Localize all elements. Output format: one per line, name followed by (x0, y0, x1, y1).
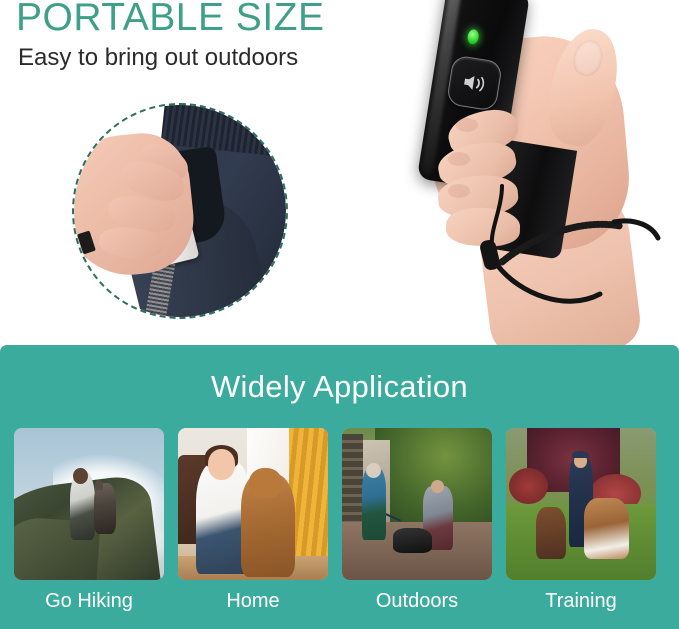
application-item-training[interactable]: Training (506, 428, 656, 613)
brindle-dog (536, 507, 566, 559)
outdoors-photo[interactable] (342, 428, 492, 580)
application-item-outdoors[interactable]: Outdoors (342, 428, 492, 613)
application-label: Training (506, 590, 656, 613)
hiking-photo[interactable] (14, 428, 164, 580)
dog-ear (95, 480, 103, 491)
training-photo[interactable] (506, 428, 656, 580)
page-title: PORTABLE SIZE (16, 0, 324, 40)
black-dog (393, 528, 432, 552)
portable-size-section: PORTABLE SIZE Easy to bring out outdoors (0, 0, 679, 345)
product-in-hand-photo (352, 0, 679, 345)
application-label: Home (178, 590, 328, 613)
application-label: Outdoors (342, 590, 492, 613)
trainer-cap (572, 451, 589, 459)
red-bush (509, 468, 548, 504)
hiker-head (73, 468, 88, 485)
application-thumbnail-row: Go Hiking Home (14, 428, 665, 613)
iron-gate (342, 434, 363, 528)
dog (94, 483, 117, 535)
pocket-photo (72, 103, 288, 319)
application-title: Widely Application (0, 345, 679, 405)
wrist-strap (352, 0, 679, 345)
home-photo[interactable] (178, 428, 328, 580)
application-item-go-hiking[interactable]: Go Hiking (14, 428, 164, 613)
application-item-home[interactable]: Home (178, 428, 328, 613)
dog-head (249, 468, 282, 498)
widely-application-section: Widely Application Go Hiking (0, 345, 679, 629)
page-subtitle: Easy to bring out outdoors (18, 44, 298, 72)
woman-head (208, 449, 235, 479)
pocket-photo-image (74, 105, 286, 317)
standing-person-head (366, 463, 381, 478)
standing-person (362, 468, 386, 541)
brown-white-dog (584, 498, 629, 559)
application-label: Go Hiking (14, 590, 164, 613)
